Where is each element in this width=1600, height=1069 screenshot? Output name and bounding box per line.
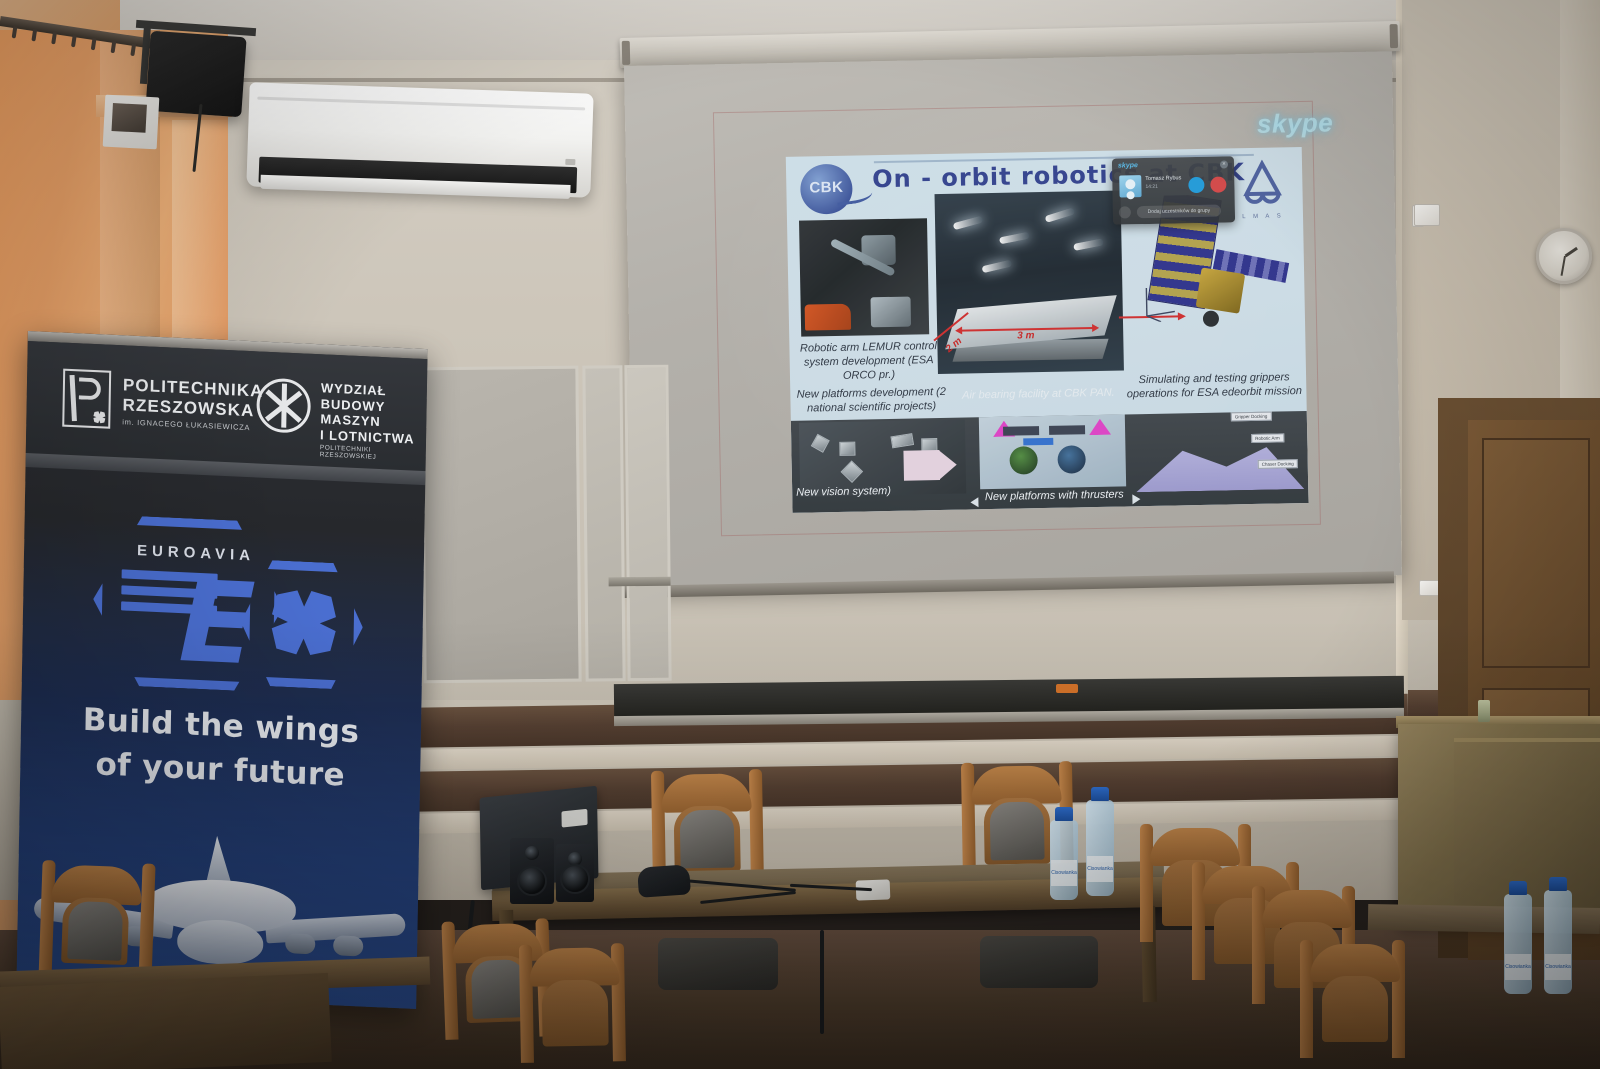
slide-caption-air-bearing: Air bearing facility at CBK PAN. <box>938 386 1138 404</box>
skype-logo-icon: skype <box>1118 162 1138 169</box>
vision-marker-4 <box>890 433 914 448</box>
water-bottle[interactable]: Cisowianka <box>1086 800 1114 896</box>
door-panel-top <box>1482 438 1590 668</box>
vision-marker-1 <box>811 434 830 453</box>
chair-back-fabric <box>680 810 735 869</box>
speaker-woofer <box>560 864 590 894</box>
water-bottle[interactable]: Cisowianka <box>1504 894 1532 994</box>
photo-lamp-4 <box>1073 238 1104 251</box>
platform-sphere-right <box>1057 445 1086 474</box>
mission-label-1: Robotic Arm <box>1251 433 1284 443</box>
chair[interactable] <box>1300 940 1410 1069</box>
slide-dimension-length: 3 m <box>1017 330 1034 341</box>
speaker-tweeter <box>525 846 539 860</box>
university-name: POLITECHNIKA RZESZOWSKA im. IGNACEGO ŁUK… <box>122 375 264 432</box>
photo-orange-block <box>805 304 851 331</box>
skype-contact-name: Tomasz Rybus <box>1145 175 1181 182</box>
chair-seat-cushion <box>980 936 1098 988</box>
politechnika-rzeszowska-logo-icon <box>62 369 111 429</box>
vision-marker-3 <box>841 460 864 483</box>
slide-caption-grippers: Simulating and testing grippers operatio… <box>1126 371 1302 402</box>
slide-caption-robotic-arm: Robotic arm LEMUR control system develop… <box>795 340 942 384</box>
bottle-label: Cisowianka <box>1087 856 1113 882</box>
plane-engine-4 <box>333 935 363 956</box>
coordinate-axes-icon <box>1140 281 1181 322</box>
clock-minute-hand <box>1561 256 1566 276</box>
euroavia-maltese-cross-icon <box>270 588 337 657</box>
platform-sphere-left <box>1009 446 1038 475</box>
wall-outlet-plate <box>103 95 160 150</box>
bottle-label: Cisowianka <box>1505 954 1531 980</box>
wall-socket <box>112 103 147 133</box>
mission-label-2: Chaser Docking <box>1258 459 1298 469</box>
euroavia-logo-icon: EUROAVIA E <box>92 514 365 696</box>
slide-caption-platforms-thrusters: New platforms with thrusters <box>978 488 1130 505</box>
slide-photo-platform-thrusters <box>979 414 1126 489</box>
air-conditioner <box>246 82 593 197</box>
video-camera-icon[interactable] <box>1188 177 1204 193</box>
satellite-body <box>1196 267 1246 313</box>
lecture-room-photo: skype CBK On - orbit robotics at CBK L M… <box>0 0 1600 1069</box>
slide-arrow-right-icon <box>1132 494 1140 504</box>
bottle-label: Cisowianka <box>1545 954 1571 980</box>
faculty-line-4: POLITECHNIKI RZESZOWSKIEJ <box>320 445 426 464</box>
ac-indicator <box>565 159 575 165</box>
vision-marker-2 <box>839 442 855 456</box>
podium-object[interactable] <box>1478 700 1490 722</box>
chair-back-fabric <box>990 802 1045 861</box>
banner-tagline-line-2: of your future <box>20 743 420 797</box>
slide-caption-vision: New vision system) <box>796 484 936 500</box>
speaker-woofer <box>517 866 547 896</box>
mission-label-0: Gripper Docking <box>1231 412 1272 422</box>
slide-photo-air-bearing-facility <box>935 190 1124 374</box>
whiteboard-panel-2[interactable] <box>582 365 625 681</box>
photo-lamp-3 <box>1045 207 1076 223</box>
platform-module-2 <box>1049 425 1085 435</box>
wall-clock <box>1536 228 1592 284</box>
water-bottle[interactable]: Cisowianka <box>1544 890 1572 994</box>
slide-caption-new-platforms: New platforms development (2 national sc… <box>796 386 947 416</box>
chair-seat-cushion <box>658 938 778 990</box>
skype-call-overlay[interactable]: skype × Tomasz Rybus 14:21 Dodaj uczestn… <box>1112 156 1235 224</box>
chair-back-fabric <box>67 901 123 961</box>
cbk-swoosh-icon <box>836 185 874 205</box>
clock-hour-hand <box>1565 247 1578 257</box>
laptop-sticker <box>561 809 587 828</box>
whiteboard-panel-1[interactable] <box>420 366 581 684</box>
slide-photo-robotic-arm <box>799 218 929 336</box>
whiteboard-panel-3[interactable] <box>624 365 671 681</box>
bottle-cap <box>1055 807 1073 821</box>
faculty-line-2: BUDOWY MASZYN <box>320 396 426 432</box>
bottle-cap <box>1549 877 1567 891</box>
slide-arrow-block <box>903 450 940 481</box>
skype-watermark: skype <box>1257 107 1334 139</box>
bottle-cap <box>1509 881 1527 895</box>
projector-unit <box>145 31 246 118</box>
photo-lamp-1 <box>953 216 984 231</box>
cable <box>820 930 824 1034</box>
plane-engine-3 <box>285 933 315 954</box>
front-table-foreground <box>0 973 332 1069</box>
photo-lamp-2 <box>999 232 1030 245</box>
desktop-speaker[interactable] <box>556 844 594 902</box>
chair[interactable] <box>519 943 629 1069</box>
maltese-cross-icon <box>93 411 105 424</box>
faculty-name: WYDZIAŁ BUDOWY MASZYN I LOTNICTWA POLITE… <box>320 380 427 463</box>
equipment-pouch[interactable] <box>637 864 691 898</box>
screen-end-cap-left <box>622 41 631 65</box>
thruster-plume-right <box>1089 419 1111 435</box>
presentation-slide: CBK On - orbit robotics at CBK L M A S <box>786 147 1309 513</box>
water-bottle[interactable]: Cisowianka <box>1050 820 1078 900</box>
add-person-icon[interactable] <box>1119 206 1131 218</box>
close-icon[interactable]: × <box>1220 160 1228 168</box>
ac-seam <box>257 97 585 111</box>
faculty-blade-3 <box>281 384 287 428</box>
chair-back-splat <box>1322 976 1388 1042</box>
satellite-dish <box>1203 311 1219 327</box>
photo-lamp-5 <box>982 260 1013 274</box>
banner-header: POLITECHNIKA RZESZOWSKA im. IGNACEGO ŁUK… <box>26 341 428 471</box>
light-switch-upper[interactable] <box>1414 204 1440 226</box>
screen-end-cap-right <box>1390 24 1399 48</box>
slide-arrow-left-icon <box>970 497 978 507</box>
bottle-cap <box>1091 787 1109 801</box>
platform-module-1 <box>1003 426 1039 436</box>
platform-module-3 <box>1023 438 1053 446</box>
photo-arm-gripper <box>870 297 911 328</box>
faculty-logo-icon <box>256 377 311 433</box>
euroavia-letter-e: E <box>178 566 256 681</box>
slide-photo-mission-diagram: Gripper Docking Robotic Arm Chaser Docki… <box>1135 405 1305 492</box>
chair-back-splat <box>542 979 609 1046</box>
hangup-phone-icon[interactable] <box>1210 176 1226 192</box>
whiteboard[interactable] <box>420 365 671 684</box>
logo-stroke-k <box>70 375 77 421</box>
avatar <box>1119 175 1141 197</box>
logo-stroke-p <box>79 377 101 400</box>
skype-action-bar[interactable]: Dodaj uczestników do grupy <box>1137 205 1221 219</box>
marker-pen[interactable] <box>1056 684 1078 693</box>
bottle-label: Cisowianka <box>1051 860 1077 886</box>
skype-call-duration: 14:21 <box>1145 184 1158 190</box>
projection-screen: skype CBK On - orbit robotics at CBK L M… <box>624 51 1402 590</box>
desktop-speaker[interactable] <box>510 838 554 904</box>
whiteboard-marker-tray <box>609 577 671 587</box>
